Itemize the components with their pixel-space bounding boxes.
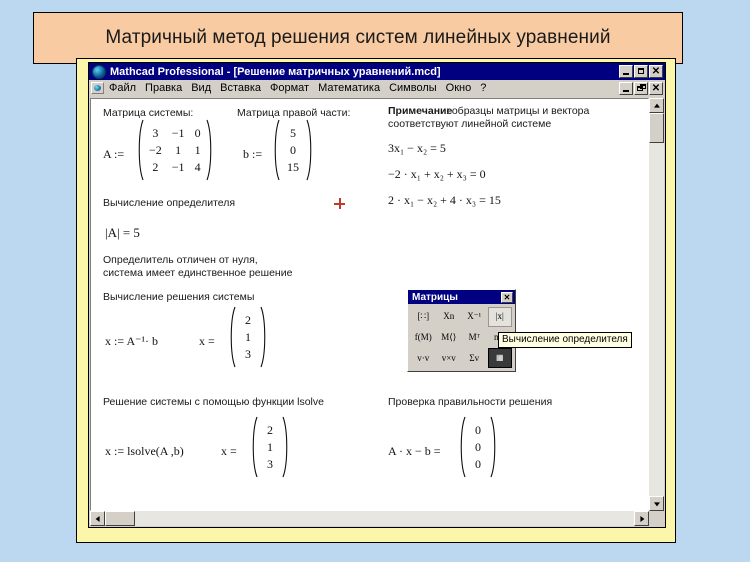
menu-bar: Файл Правка Вид Вставка Формат Математик… bbox=[89, 80, 665, 97]
palette-button-matrix-determinant[interactable]: |x| bbox=[488, 307, 513, 327]
label-verify-heading: Проверка правильности решения bbox=[388, 396, 552, 408]
left-paren bbox=[457, 416, 466, 478]
horizontal-scroll-track[interactable] bbox=[105, 511, 634, 526]
cell: −2 bbox=[144, 142, 167, 159]
palette-button-picture-operator[interactable]: ▦ bbox=[488, 348, 513, 368]
cell: 0 bbox=[466, 439, 490, 456]
child-close-button[interactable]: ✕ bbox=[649, 82, 663, 95]
cell: 3 bbox=[258, 456, 282, 473]
document-row: Матрица системы: Матрица правой части: A… bbox=[90, 98, 664, 511]
cell: 0 bbox=[466, 456, 490, 473]
vertical-scrollbar[interactable] bbox=[649, 98, 664, 511]
palette-button-matrix-column[interactable]: M⟨⟩ bbox=[437, 328, 462, 348]
vertical-scroll-thumb[interactable] bbox=[649, 113, 664, 143]
cell: 0 bbox=[190, 125, 206, 142]
label-note-rest: : образцы матрицы и вектора bbox=[446, 105, 589, 117]
right-paren bbox=[490, 416, 499, 478]
cell: 4 bbox=[190, 159, 206, 176]
slide-title-box: Матричный метод решения систем линейных … bbox=[33, 12, 683, 64]
child-restore-button[interactable] bbox=[634, 82, 648, 95]
menu-item-format[interactable]: Формат bbox=[270, 82, 309, 94]
child-close-icon: ✕ bbox=[650, 83, 662, 94]
vertical-scroll-track[interactable] bbox=[649, 113, 664, 496]
cell: 3 bbox=[144, 125, 167, 142]
minimize-button[interactable] bbox=[619, 65, 633, 78]
palette-button-matrix-subscript[interactable]: Xn bbox=[437, 307, 462, 327]
worksheet-content: Матрица системы: Матрица правой части: A… bbox=[91, 99, 648, 510]
cell: 1 bbox=[236, 329, 260, 346]
expr-A-assign[interactable]: A := bbox=[103, 147, 124, 162]
chevron-down-icon bbox=[654, 502, 660, 506]
cell: −1 bbox=[167, 159, 190, 176]
cell: 5 bbox=[280, 125, 306, 142]
expr-x-inverse[interactable]: x := A⁻¹· b bbox=[105, 334, 158, 349]
menu-item-window[interactable]: Окно bbox=[446, 82, 472, 94]
label-note-line2: соответствуют линейной системе bbox=[388, 118, 551, 130]
right-paren bbox=[306, 119, 315, 181]
crosshair-cursor bbox=[334, 198, 345, 209]
right-paren bbox=[206, 119, 215, 181]
expr-b-assign[interactable]: b := bbox=[243, 147, 262, 162]
equation-3[interactable]: 2 · x₁ − x₂ + 4 · x₃ = 15 bbox=[388, 193, 501, 208]
vector-b[interactable]: 5 0 15 bbox=[271, 119, 315, 181]
right-paren bbox=[260, 306, 269, 368]
cell: −1 bbox=[167, 125, 190, 142]
palette-button-matrix-inverse[interactable]: X⁻¹ bbox=[462, 307, 487, 327]
palette-button-matrix-transpose[interactable]: Mᵀ bbox=[462, 328, 487, 348]
cell: 0 bbox=[466, 422, 490, 439]
palette-button-matrix-insert[interactable]: [∷] bbox=[411, 307, 436, 327]
menu-item-help[interactable]: ? bbox=[480, 82, 486, 94]
equation-2[interactable]: −2 · x₁ + x₂ + x₃ = 0 bbox=[388, 167, 486, 182]
menu-item-math[interactable]: Математика bbox=[318, 82, 380, 94]
menu-item-edit[interactable]: Правка bbox=[145, 82, 182, 94]
matrices-palette[interactable]: Матрицы ✕ [∷] Xn X⁻¹ |x| f(M) M⟨⟩ Mᵀ m.. bbox=[407, 289, 516, 372]
scroll-up-button[interactable] bbox=[649, 98, 664, 113]
document-area: Матрица системы: Матрица правой части: A… bbox=[89, 97, 665, 527]
palette-titlebar[interactable]: Матрицы ✕ bbox=[408, 290, 515, 304]
left-paren bbox=[135, 119, 144, 181]
label-det-nonzero-2: система имеет единственное решение bbox=[103, 267, 292, 279]
scroll-down-button[interactable] bbox=[649, 496, 664, 511]
palette-close-icon[interactable]: ✕ bbox=[501, 292, 513, 303]
horizontal-scrollbar[interactable] bbox=[90, 511, 664, 526]
worksheet-canvas[interactable]: Матрица системы: Матрица правой части: A… bbox=[90, 98, 649, 511]
left-paren bbox=[271, 119, 280, 181]
document-control-icon[interactable] bbox=[91, 82, 104, 94]
label-note-bold: Примечание bbox=[388, 105, 452, 117]
scroll-left-button[interactable] bbox=[90, 511, 105, 526]
mathcad-app-icon bbox=[92, 65, 106, 79]
menu-item-file[interactable]: Файл bbox=[109, 82, 136, 94]
window-title: Mathcad Professional - [Решение матричны… bbox=[110, 66, 619, 78]
vector-x-lsolve[interactable]: 2 1 3 bbox=[249, 416, 291, 478]
label-matrix-system: Матрица системы: bbox=[103, 107, 193, 119]
palette-button-vector-sum[interactable]: Σv bbox=[462, 348, 487, 368]
tooltip-determinant: Вычисление определителя bbox=[498, 332, 632, 348]
child-minimize-button[interactable] bbox=[619, 82, 633, 95]
expr-verify[interactable]: A · x − b = bbox=[388, 444, 441, 459]
scroll-right-button[interactable] bbox=[634, 511, 649, 526]
vector-x-cells: 2 1 3 bbox=[236, 312, 260, 363]
matrix-A[interactable]: 3 −1 0 −2 1 1 2 −1 4 bbox=[135, 119, 215, 181]
expr-x-lsolve[interactable]: x := lsolve(A ,b) bbox=[105, 444, 184, 459]
close-icon: ✕ bbox=[650, 66, 662, 77]
scrollbar-corner bbox=[649, 511, 664, 526]
expr-x-equals-1: x = bbox=[199, 334, 215, 349]
menu-item-symbolics[interactable]: Символы bbox=[389, 82, 437, 94]
expr-x-equals-2: x = bbox=[221, 444, 237, 459]
palette-button-cross-product[interactable]: v×v bbox=[437, 348, 462, 368]
right-paren bbox=[282, 416, 291, 478]
label-det-nonzero-1: Определитель отличен от нуля, bbox=[103, 254, 258, 266]
cell: 2 bbox=[258, 422, 282, 439]
chevron-left-icon bbox=[95, 516, 99, 522]
palette-button-vectorize[interactable]: f(M) bbox=[411, 328, 436, 348]
cell: 1 bbox=[190, 142, 206, 159]
vector-x-lsolve-cells: 2 1 3 bbox=[258, 422, 282, 473]
mdi-child-controls: ✕ bbox=[619, 82, 663, 95]
vector-verify-result[interactable]: 0 0 0 bbox=[457, 416, 499, 478]
label-determinant-calc: Вычисление определителя bbox=[103, 197, 235, 209]
cell: 1 bbox=[258, 439, 282, 456]
cell: 2 bbox=[236, 312, 260, 329]
cell: 3 bbox=[236, 346, 260, 363]
cell: 1 bbox=[167, 142, 190, 159]
chevron-up-icon bbox=[654, 103, 660, 107]
window-controls: ✕ bbox=[619, 65, 663, 78]
window-titlebar[interactable]: Mathcad Professional - [Решение матричны… bbox=[89, 63, 665, 80]
chevron-right-icon bbox=[640, 516, 644, 522]
vector-x-solution[interactable]: 2 1 3 bbox=[227, 306, 269, 368]
cell: 15 bbox=[280, 159, 306, 176]
palette-title: Матрицы bbox=[412, 292, 501, 303]
label-matrix-rhs: Матрица правой части: bbox=[237, 107, 350, 119]
label-solution-calc: Вычисление решения системы bbox=[103, 291, 254, 303]
cell: 0 bbox=[280, 142, 306, 159]
mathcad-window: Mathcad Professional - [Решение матричны… bbox=[88, 62, 666, 528]
close-button[interactable]: ✕ bbox=[649, 65, 663, 78]
vector-b-cells: 5 0 15 bbox=[280, 125, 306, 176]
menu-item-view[interactable]: Вид bbox=[191, 82, 211, 94]
maximize-button[interactable] bbox=[634, 65, 648, 78]
label-lsolve-heading: Решение системы с помощью функции lsolve bbox=[103, 396, 324, 408]
palette-button-dot-product[interactable]: v·v bbox=[411, 348, 436, 368]
horizontal-scroll-thumb[interactable] bbox=[105, 511, 135, 526]
left-paren bbox=[249, 416, 258, 478]
expr-determinant[interactable]: |A| = 5 bbox=[105, 225, 140, 241]
left-paren bbox=[227, 306, 236, 368]
equation-1[interactable]: 3x₁ − x₂ = 5 bbox=[388, 141, 446, 156]
page-title: Матричный метод решения систем линейных … bbox=[105, 27, 610, 49]
menu-item-insert[interactable]: Вставка bbox=[220, 82, 261, 94]
vector-verify-cells: 0 0 0 bbox=[466, 422, 490, 473]
matrix-A-cells: 3 −1 0 −2 1 1 2 −1 4 bbox=[144, 125, 206, 176]
cell: 2 bbox=[144, 159, 167, 176]
